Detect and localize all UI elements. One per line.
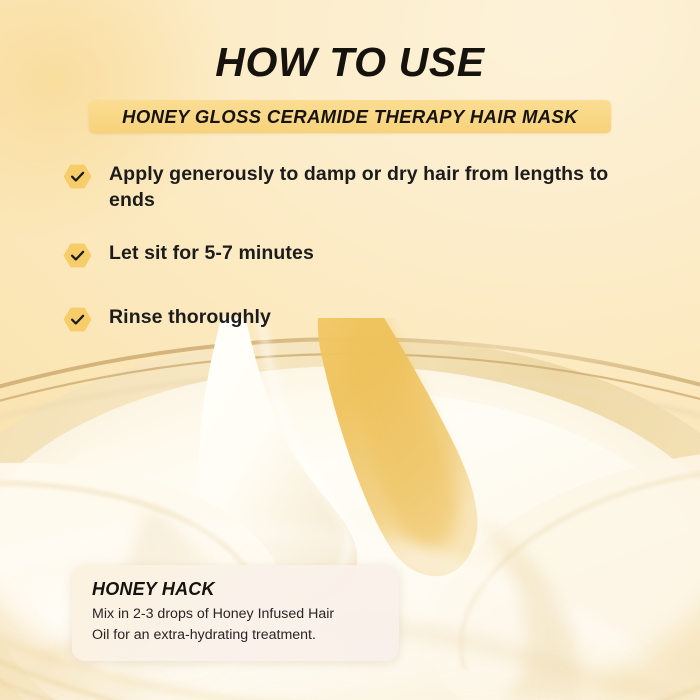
honey-hack-card: HONEY HACK Mix in 2-3 drops of Honey Inf… <box>72 565 399 661</box>
check-hexagon-icon <box>62 304 93 335</box>
product-name-label: HONEY GLOSS CERAMIDE THERAPY HAIR MASK <box>89 105 611 128</box>
usage-step-item: Rinse thoroughly <box>62 301 622 335</box>
usage-step-label: Rinse thoroughly <box>109 301 271 330</box>
how-to-use-panel: HOW TO USE HONEY GLOSS CERAMIDE THERAPY … <box>0 0 700 700</box>
usage-step-label: Apply generously to damp or dry hair fro… <box>109 158 622 213</box>
usage-step-item: Apply generously to damp or dry hair fro… <box>62 158 622 213</box>
usage-steps-list: Apply generously to damp or dry hair fro… <box>62 158 622 353</box>
honey-hack-line-1: Mix in 2-3 drops of Honey Infused Hair <box>92 604 381 625</box>
usage-step-label: Let sit for 5-7 minutes <box>109 237 314 266</box>
check-hexagon-icon <box>62 240 93 271</box>
honey-hack-line-2: Oil for an extra-hydrating treatment. <box>92 625 381 646</box>
honey-hack-title: HONEY HACK <box>92 578 381 600</box>
product-name-banner: HONEY GLOSS CERAMIDE THERAPY HAIR MASK <box>89 100 611 133</box>
page-title: HOW TO USE <box>0 38 700 86</box>
usage-step-item: Let sit for 5-7 minutes <box>62 237 622 271</box>
check-hexagon-icon <box>62 161 93 192</box>
